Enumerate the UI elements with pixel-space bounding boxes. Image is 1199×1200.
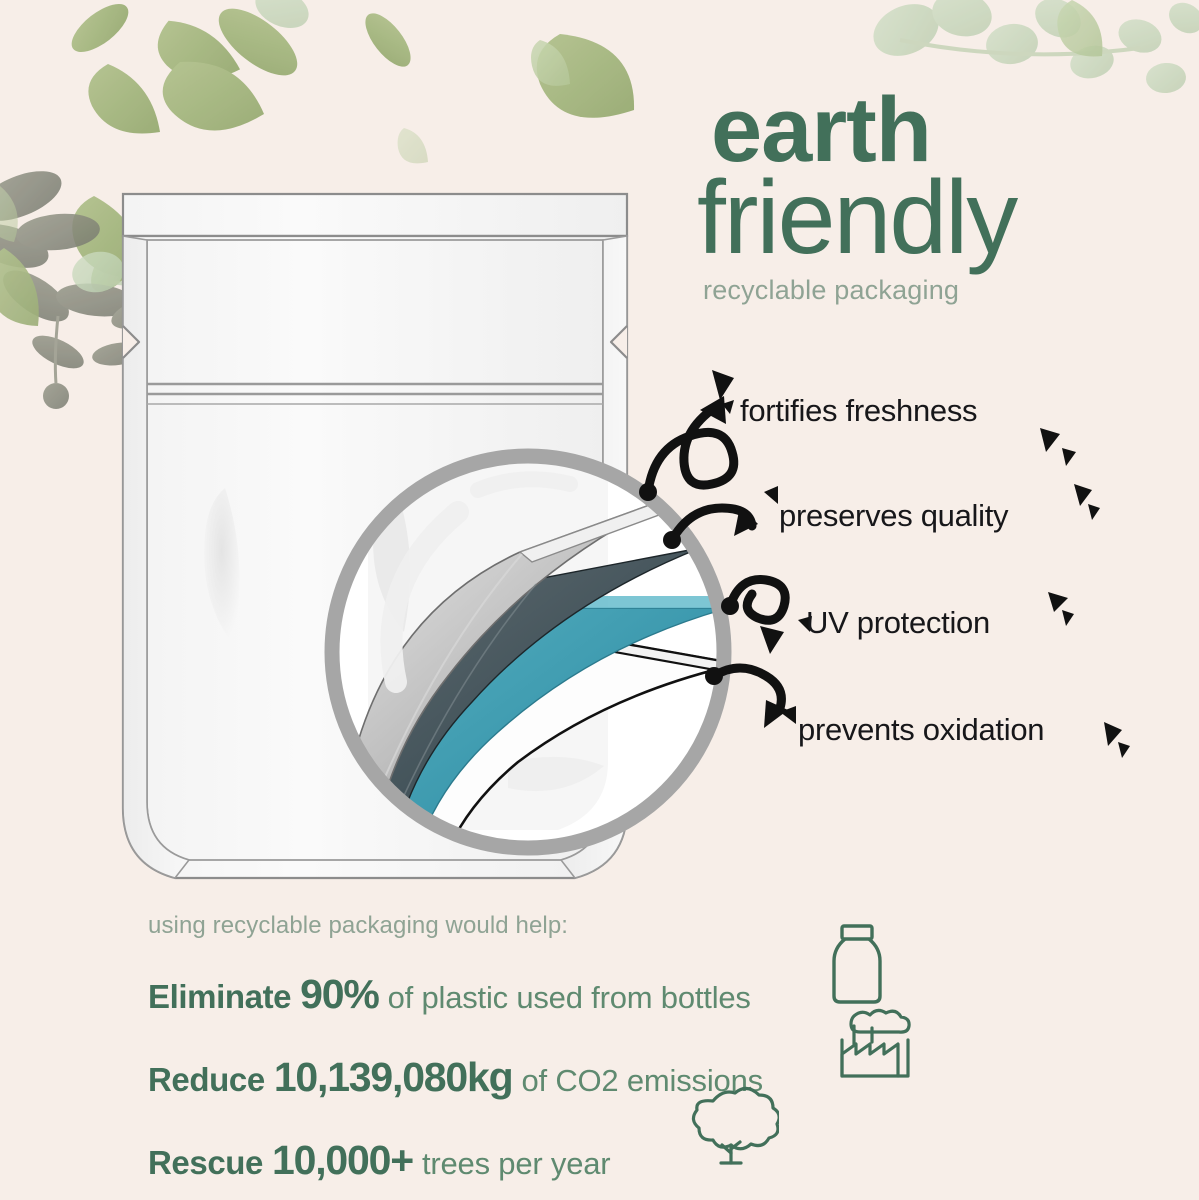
feature-label-prevents-oxidation: prevents oxidation [798, 712, 1044, 748]
bottle-icon [826, 922, 888, 1006]
stat-verb: Eliminate [148, 978, 291, 1016]
stat-row-eliminate: Eliminate 90% of plastic used from bottl… [148, 971, 908, 1018]
page-subtitle: recyclable packaging [703, 275, 1167, 306]
factory-icon [838, 1008, 912, 1080]
stat-row-rescue: Rescue 10,000+ trees per year [148, 1137, 908, 1184]
stat-description: trees per year [422, 1146, 610, 1182]
tree-icon [683, 1085, 779, 1167]
statistics-block: using recyclable packaging would help: E… [148, 912, 908, 1184]
headline-block: earth friendly recyclable packaging [697, 88, 1167, 306]
stat-value: 90% [300, 971, 378, 1018]
stat-verb: Rescue [148, 1144, 263, 1182]
feature-label-fortifies-freshness: fortifies freshness [740, 393, 977, 429]
feature-label-preserves-quality: preserves quality [779, 498, 1008, 534]
infographic-canvas: earth friendly recyclable packaging fort… [0, 0, 1199, 1200]
feature-label-uv-protection: UV protection [806, 605, 990, 641]
stat-value: 10,000+ [272, 1137, 413, 1184]
stat-row-reduce: Reduce 10,139,080kg of CO2 emissions [148, 1054, 908, 1101]
page-title-line2: friendly [697, 169, 1167, 268]
stat-description: of plastic used from bottles [388, 980, 751, 1016]
stat-value: 10,139,080kg [274, 1054, 513, 1101]
stat-verb: Reduce [148, 1061, 265, 1099]
stats-intro-text: using recyclable packaging would help: [148, 912, 908, 940]
